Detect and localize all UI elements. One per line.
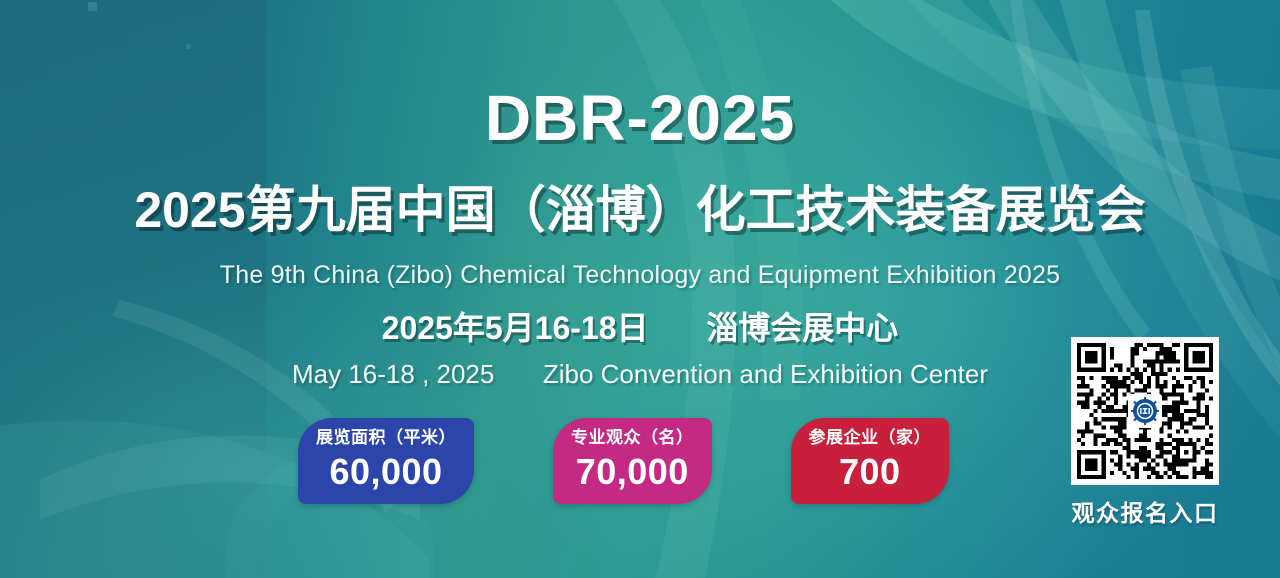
date-chinese: 2025年5月16-18日 (382, 310, 649, 346)
stat-badge-exhibiting-companies: 参展企业（家） 700 (791, 418, 950, 504)
stat-value: 70,000 (571, 451, 694, 492)
date-english: May 16-18 , 2025 (292, 359, 494, 389)
qr-caption: 观众报名入口 (1071, 494, 1219, 528)
registration-qr-block[interactable]: 观众报名入口 (1071, 337, 1219, 528)
gear-logo-icon (1128, 394, 1162, 428)
venue-chinese: 淄博会展中心 (706, 310, 898, 346)
stat-badge-professional-visitors: 专业观众（名） 70,000 (553, 418, 712, 504)
stat-label: 展览面积（平米） (316, 427, 456, 450)
stat-value: 60,000 (316, 451, 456, 492)
exhibition-banner: DBR-2025 2025第九届中国（淄博）化工技术装备展览会 The 9th … (0, 0, 1280, 578)
qr-code[interactable] (1071, 337, 1219, 485)
stat-value: 700 (809, 451, 932, 492)
statistics-badges: 展览面积（平米） 60,000 专业观众（名） 70,000 参展企业（家） 7… (298, 418, 949, 504)
exhibition-title-english: The 9th China (Zibo) Chemical Technology… (0, 261, 1280, 290)
stat-label: 参展企业（家） (809, 427, 932, 450)
stat-badge-exhibition-area: 展览面积（平米） 60,000 (298, 418, 474, 504)
exhibition-title-chinese: 2025第九届中国（淄博）化工技术装备展览会 (0, 182, 1280, 238)
stat-label: 专业观众（名） (571, 427, 694, 450)
venue-english: Zibo Convention and Exhibition Center (543, 359, 988, 389)
page-title: DBR-2025 (0, 86, 1280, 150)
